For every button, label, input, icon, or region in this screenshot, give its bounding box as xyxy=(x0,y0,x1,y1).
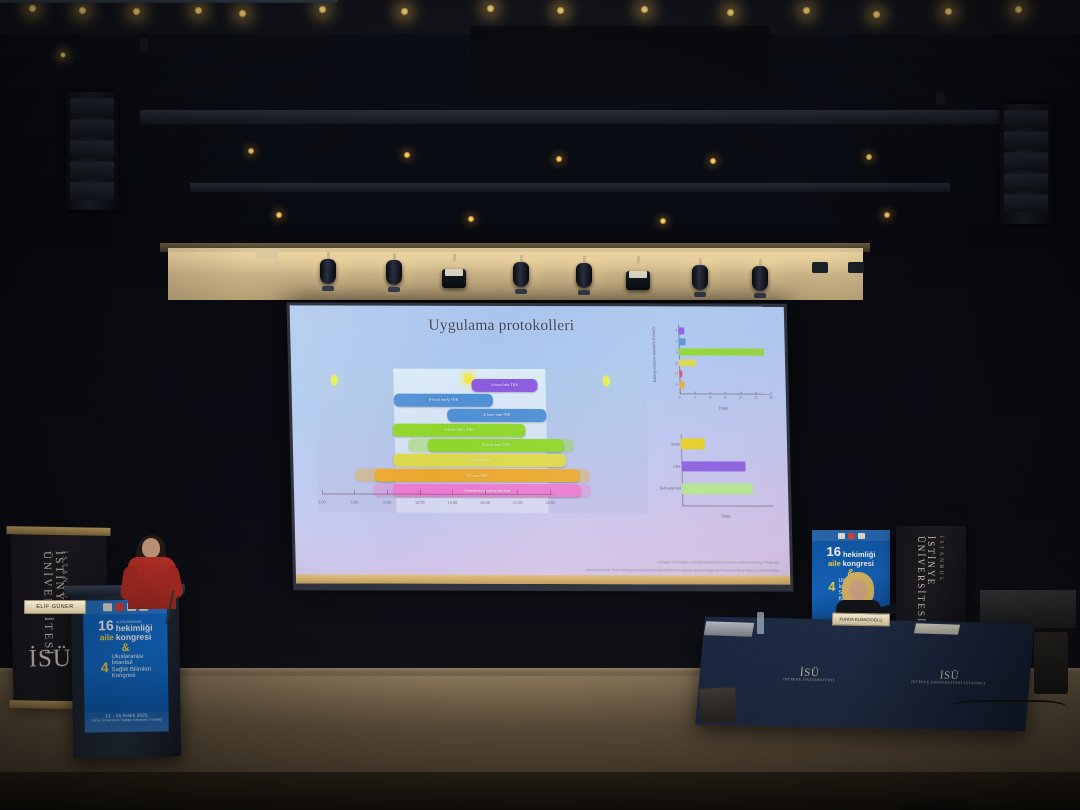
timeline-tick-label: 3:00 xyxy=(318,499,326,504)
banner-isu-logo: İSÜ xyxy=(28,645,72,674)
chart-x-tick-label: 25 xyxy=(754,396,758,400)
poster-skyline-graphic: 12 - 15 Aralık 2025 İstinye Üniversitesi… xyxy=(85,711,169,732)
chart-x-tick xyxy=(680,391,681,394)
moderator-nameplate: FUNDA ELMACIOĞLU xyxy=(832,612,890,626)
stage-floodlight xyxy=(626,256,650,290)
chart-category-label: 10 xyxy=(674,361,678,365)
stage-light-small xyxy=(848,262,864,273)
timeline-tick-label: 6:00 xyxy=(351,499,359,504)
poster-second-line-4: Kongresi xyxy=(112,673,151,680)
ceiling-light xyxy=(1014,5,1023,14)
ceiling-light xyxy=(248,148,254,154)
chart-bar xyxy=(679,370,683,377)
moon-icon xyxy=(329,372,345,388)
chart-category-label: 8 xyxy=(676,350,678,354)
banner-city-name: İSTANBUL xyxy=(938,536,944,583)
ceiling-light xyxy=(866,154,872,160)
stage-spotlight xyxy=(386,253,402,292)
timeline-tick-label: 21:00 xyxy=(513,500,523,505)
chart-bar xyxy=(681,461,745,472)
chart-category-label: Late xyxy=(673,464,680,468)
poster-sponsor-ribbon xyxy=(812,530,890,541)
ceiling-light xyxy=(710,158,716,164)
ceiling-light xyxy=(78,6,87,15)
timeline-bar: 12-hour TRE xyxy=(374,468,580,482)
banner-edition-number: 16 xyxy=(827,544,841,559)
ceiling-light xyxy=(944,7,953,16)
table-logo-left: İSÜ İSTİNYE ÜNİVERSİTESİ xyxy=(783,666,836,683)
slide-title: Uygulama protokolleri xyxy=(428,317,574,335)
ceiling-truss xyxy=(140,110,1000,124)
timeline-bar: 4-hour late TRE xyxy=(471,378,538,391)
chart-y-axis-label: Eating window duration (hours) xyxy=(651,323,658,387)
ceiling-truss-secondary xyxy=(190,183,950,192)
timeline-bar: Unrestricted eating window xyxy=(393,483,582,497)
chart-bar xyxy=(679,381,684,388)
banner-line-hekimligi: hekimliği xyxy=(843,550,876,559)
timeline-tick-label: 9:00 xyxy=(383,500,391,505)
poster-second-number: 4 xyxy=(101,659,109,675)
ceiling-light xyxy=(640,5,649,14)
timeline-tick-label: 12:00 xyxy=(415,500,425,505)
ceiling-light xyxy=(60,52,66,58)
timeline-tick xyxy=(322,489,323,494)
stage-spotlight xyxy=(692,258,708,297)
poster-venue: İstinye Üniversitesi Topkapı Kampüsü / İ… xyxy=(85,717,169,722)
chart-x-tick xyxy=(710,391,711,394)
chart-bar xyxy=(679,349,764,356)
sponsor-chip xyxy=(848,533,855,539)
stage-spotlight xyxy=(320,252,336,291)
table-logo-left-subtext: İSTİNYE ÜNİVERSİTESİ xyxy=(783,678,835,683)
chart-category-label: Self-selected xyxy=(660,487,681,491)
ceiling-light xyxy=(28,4,37,13)
table-logo-right-subtext: İSTİNYE ÜNİVERSİTESİ İSTANBUL xyxy=(911,681,986,687)
slide-surface: Uygulama protokolleri 4-hour late TRE8-h… xyxy=(290,305,791,584)
poster-line-kongresi: kongresi xyxy=(116,632,152,642)
chart-bar xyxy=(681,439,706,450)
timeline-chart: 4-hour late TRE8-hour early TRE4-hour la… xyxy=(314,368,648,513)
banner-line-kongresi: kongresi xyxy=(843,559,874,568)
poster-edition-number: 16 xyxy=(98,617,114,633)
ceiling-light xyxy=(872,10,881,19)
ceiling-light xyxy=(556,156,562,162)
chart-x-tick xyxy=(740,392,741,395)
ceiling-recess xyxy=(470,26,770,96)
chart-x-tick xyxy=(695,391,696,394)
timeline-tick xyxy=(420,490,421,495)
chart-bar xyxy=(682,483,754,494)
podium-congress-poster: 16 ULUSLARARASI hekimliği aile kongresi … xyxy=(83,599,169,732)
ceiling-light xyxy=(802,6,811,15)
slide-credit-line-2: Chrono-nutrition: From Molecular and Neu… xyxy=(586,568,779,573)
chart-x-tick-label: 0 xyxy=(679,395,681,399)
slide-credit-line-1: Compare chronotype and clinical implicat… xyxy=(657,560,779,564)
ceiling-sensor xyxy=(936,92,945,105)
stage-spotlight xyxy=(752,259,768,298)
chart-x-tick-label: 10 xyxy=(708,395,712,399)
projection-screen: Uygulama protokolleri 4-hour late TRE8-h… xyxy=(287,302,794,591)
chart-bar xyxy=(678,327,684,334)
timeline-tick-label: 18:00 xyxy=(480,500,490,505)
ceiling-light xyxy=(132,7,141,16)
screen-bottom-trim xyxy=(296,574,790,584)
ceiling-light xyxy=(404,152,410,158)
speaker-podium: 16 ULUSLARARASI hekimliği aile kongresi … xyxy=(71,591,181,757)
ceiling-light xyxy=(660,218,666,224)
papers-on-table xyxy=(914,623,960,634)
timeline-bar: 6-hour early TRE xyxy=(393,423,526,437)
sponsor-chip xyxy=(858,533,865,539)
moon-icon xyxy=(601,373,617,389)
ceiling-light xyxy=(468,216,474,222)
timeline-bar: 10-hour TRE xyxy=(394,453,566,467)
stage-spotlight xyxy=(513,255,529,294)
chart-x-tick-label: 15 xyxy=(724,395,728,399)
eating-window-duration-chart: 468101214 051015202530 Trials Eating win… xyxy=(678,324,771,394)
ceiling-light xyxy=(486,4,495,13)
ceiling-camera xyxy=(140,38,148,52)
moderator-head xyxy=(849,580,867,600)
timeline-tick xyxy=(485,490,486,495)
sponsor-chip xyxy=(838,533,845,539)
chart-category-label: 12 xyxy=(675,372,679,376)
ceiling-light xyxy=(726,8,735,17)
floor-equipment-case xyxy=(699,687,737,723)
panel-table-surface xyxy=(0,0,338,3)
stage-spotlight xyxy=(576,256,592,295)
floor-cables xyxy=(948,700,1068,716)
chart-x-tick-label: 30 xyxy=(769,396,773,400)
water-bottle xyxy=(757,612,764,634)
wall-sconce xyxy=(256,250,278,259)
poster-edition-prefix: ULUSLARARASI xyxy=(116,621,153,625)
timeline-bar: 8-hour late TRE xyxy=(428,438,564,452)
timeline-tick xyxy=(387,490,388,495)
ceiling-light xyxy=(884,212,890,218)
line-array-speaker-right xyxy=(1000,104,1052,224)
floor-monitor-speaker xyxy=(900,790,970,810)
ceiling-light xyxy=(238,9,247,18)
chart-x-tick xyxy=(771,392,772,395)
chart-category-label: 4 xyxy=(675,329,677,333)
ceiling-light xyxy=(556,6,565,15)
timeline-tick xyxy=(452,490,453,495)
banner-line-aile: aile xyxy=(828,559,841,568)
eating-timing-chart: EarlyLateSelf-selected Trials xyxy=(681,434,774,506)
chart-x-axis-label: Trials xyxy=(718,405,728,410)
ceiling-light xyxy=(276,212,282,218)
timeline-tick xyxy=(550,490,551,495)
chart-bar xyxy=(678,338,685,345)
ceiling-light xyxy=(318,5,327,14)
presenter-at-podium xyxy=(122,538,184,608)
podium-nameplate: ELİF GÜNER xyxy=(24,600,86,614)
laptop-on-table xyxy=(704,621,754,637)
ceiling-light xyxy=(194,6,203,15)
chair xyxy=(1034,632,1068,694)
auditorium-scene: Uygulama protokolleri 4-hour late TRE8-h… xyxy=(0,0,1080,810)
timeline-bar: 8-hour early TRE xyxy=(394,393,494,407)
stage-floodlight xyxy=(442,254,466,288)
chart-x-tick-label: 5 xyxy=(694,395,696,399)
chart-category-label: 14 xyxy=(675,383,679,387)
timeline-bar: 4-hour late TRE xyxy=(447,408,547,422)
chart-x-tick xyxy=(725,391,726,394)
timeline-tick-label: 15:00 xyxy=(448,500,458,505)
presenter-head xyxy=(142,538,160,558)
timeline-tick xyxy=(517,490,518,495)
chart-x-tick-label: 20 xyxy=(739,395,743,399)
chart-x-axis xyxy=(682,505,773,506)
sponsor-chip xyxy=(103,603,112,611)
timeline-tick xyxy=(354,490,355,495)
chart-category-label: 6 xyxy=(676,339,678,343)
chart-bar xyxy=(679,360,696,367)
chart-category-label: Early xyxy=(671,442,680,446)
timeline-tick-label: 24:00 xyxy=(545,500,555,505)
ceiling-light xyxy=(400,7,409,16)
banner-cap-top xyxy=(6,526,110,536)
table-logo-right: İSÜ İSTİNYE ÜNİVERSİTESİ İSTANBUL xyxy=(911,669,987,687)
poster-line-aile: aile xyxy=(100,632,114,642)
chart-x-tick xyxy=(756,392,757,395)
stage-light-small xyxy=(812,262,828,273)
chart-x-axis-label: Trials xyxy=(721,514,731,519)
line-array-speaker-left xyxy=(66,92,118,210)
